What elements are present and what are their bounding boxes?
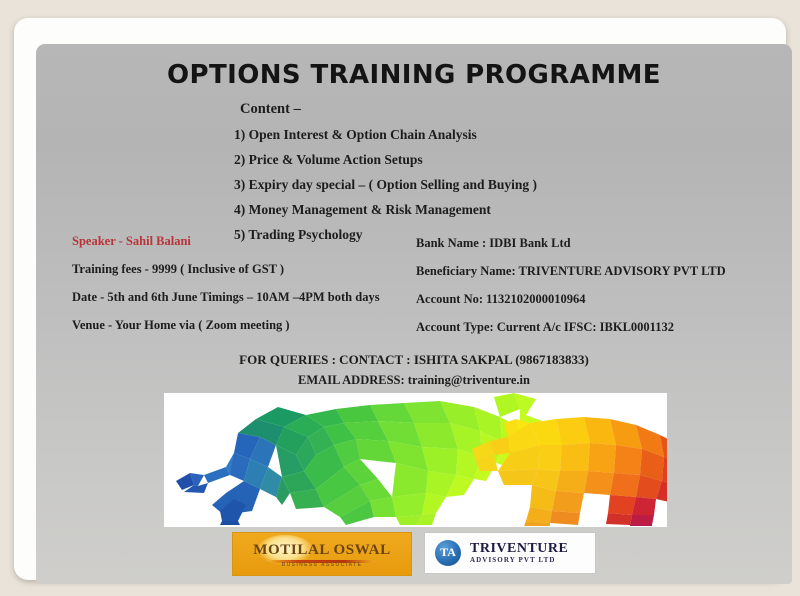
fees-line: Training fees - 9999 ( Inclusive of GST … bbox=[72, 262, 422, 277]
slide-card: OPTIONS TRAINING PROGRAMME Content – 1) … bbox=[14, 18, 786, 580]
screenshot-root: OPTIONS TRAINING PROGRAMME Content – 1) … bbox=[0, 0, 800, 596]
bull-bear-svg bbox=[164, 393, 667, 527]
content-block: Content – 1) Open Interest & Option Chai… bbox=[234, 101, 537, 252]
motilal-oswal-logo: MOTILAL OSWAL BUSINESS ASSOCIATE bbox=[232, 532, 412, 576]
presentation-slide: OPTIONS TRAINING PROGRAMME Content – 1) … bbox=[36, 44, 792, 584]
triventure-wordmark: TRIVENTURE ADVISORY PVT LTD bbox=[470, 542, 568, 564]
triventure-badge-text: TA bbox=[435, 545, 461, 560]
bull-bear-artwork bbox=[164, 393, 667, 527]
content-item-1: 1) Open Interest & Option Chain Analysis bbox=[234, 127, 537, 143]
bank-name-line: Bank Name : IDBI Bank Ltd bbox=[416, 236, 776, 251]
content-item-4: 4) Money Management & Risk Management bbox=[234, 202, 537, 218]
beneficiary-name-line: Beneficiary Name: TRIVENTURE ADVISORY PV… bbox=[416, 264, 776, 279]
account-number-line: Account No: 1132102000010964 bbox=[416, 292, 776, 307]
content-item-2: 2) Price & Volume Action Setups bbox=[234, 152, 537, 168]
programme-details-column: Speaker - Sahil Balani Training fees - 9… bbox=[72, 234, 422, 346]
triventure-badge-icon: TA bbox=[435, 540, 461, 566]
logo-strip: MOTILAL OSWAL BUSINESS ASSOCIATE TA TRIV… bbox=[36, 532, 792, 576]
triventure-name: TRIVENTURE bbox=[470, 542, 568, 557]
triventure-subtitle: ADVISORY PVT LTD bbox=[470, 557, 568, 564]
page-title: OPTIONS TRAINING PROGRAMME bbox=[36, 60, 792, 90]
motilal-oswal-name: MOTILAL OSWAL bbox=[233, 542, 411, 559]
content-heading: Content – bbox=[234, 101, 537, 118]
bank-details-column: Bank Name : IDBI Bank Ltd Beneficiary Na… bbox=[416, 236, 776, 348]
date-timings-line: Date - 5th and 6th June Timings – 10AM –… bbox=[72, 290, 422, 305]
account-type-ifsc-line: Account Type: Current A/c IFSC: IBKL0001… bbox=[416, 320, 776, 335]
venue-line: Venue - Your Home via ( Zoom meeting ) bbox=[72, 318, 422, 333]
motilal-oswal-tagline: BUSINESS ASSOCIATE bbox=[233, 562, 411, 568]
contact-queries-line: FOR QUERIES : CONTACT : ISHITA SAKPAL (9… bbox=[36, 352, 792, 368]
content-item-3: 3) Expiry day special – ( Option Selling… bbox=[234, 177, 537, 193]
triventure-logo: TA TRIVENTURE ADVISORY PVT LTD bbox=[424, 532, 596, 574]
speaker-line: Speaker - Sahil Balani bbox=[72, 234, 422, 249]
email-address-line: EMAIL ADDRESS: training@triventure.in bbox=[36, 373, 792, 388]
